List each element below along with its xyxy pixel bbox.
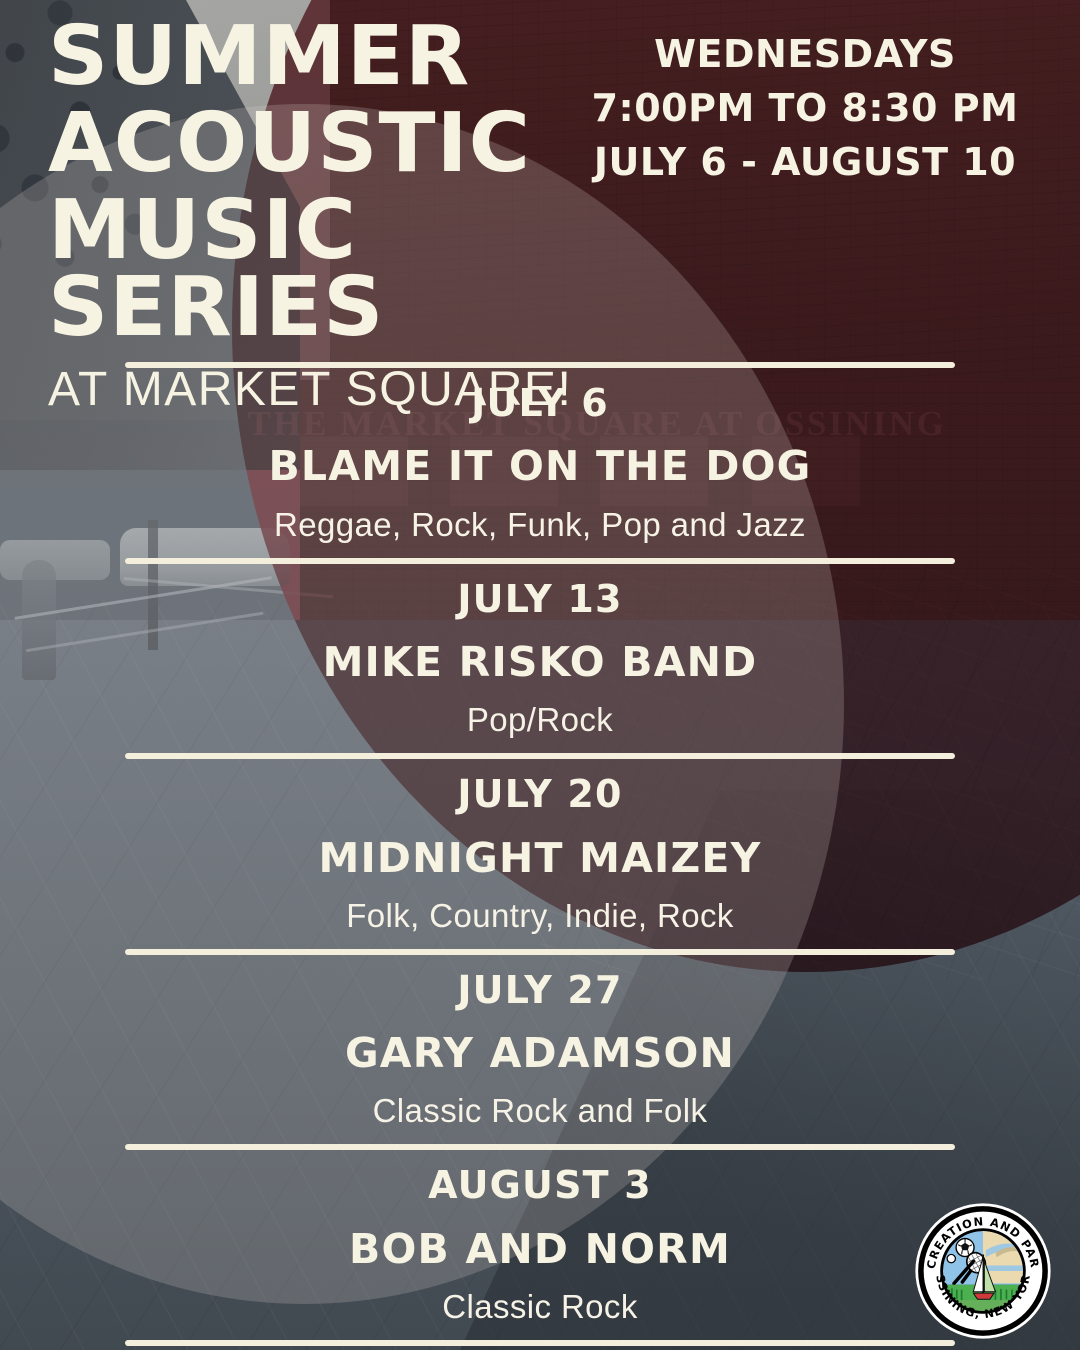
entry-genre: Folk, Country, Indie, Rock [0, 895, 1080, 938]
series-date-range: JULY 6 - AUGUST 10 [570, 136, 1040, 190]
entry-genre: Reggae, Rock, Funk, Pop and Jazz [0, 504, 1080, 547]
schedule-entry: JULY 6 BLAME IT ON THE DOG Reggae, Rock,… [0, 368, 1080, 558]
title-line-3: MUSIC SERIES [48, 192, 721, 346]
entry-band: MIDNIGHT MAIZEY [0, 832, 1080, 885]
entry-genre: Pop/Rock [0, 699, 1080, 742]
entry-band: BLAME IT ON THE DOG [0, 440, 1080, 493]
schedule-entry: JULY 13 MIKE RISKO BAND Pop/Rock [0, 564, 1080, 754]
entry-band: MIKE RISKO BAND [0, 636, 1080, 689]
schedule-entry: JULY 20 MIDNIGHT MAIZEY Folk, Country, I… [0, 759, 1080, 949]
entry-date: JULY 13 [0, 575, 1080, 624]
poster-content: SUMMER ACOUSTIC MUSIC SERIES AT MARKET S… [0, 0, 1080, 1350]
entry-band: GARY ADAMSON [0, 1027, 1080, 1080]
series-weekday: WEDNESDAYS [570, 28, 1040, 82]
ossining-parks-logo: RECREATION AND PARKS OSSINING, NEW YORK [914, 1202, 1052, 1340]
entry-date: JULY 20 [0, 770, 1080, 819]
schedule-entry: AUGUST 10 SUNDAD World Fusion, New Age [0, 1346, 1080, 1350]
series-time: 7:00PM TO 8:30 PM [570, 82, 1040, 136]
entry-date: JULY 27 [0, 966, 1080, 1015]
entry-date: JULY 6 [0, 379, 1080, 428]
schedule-summary-block: WEDNESDAYS 7:00PM TO 8:30 PM JULY 6 - AU… [570, 28, 1040, 190]
poster-canvas: THE MARKET SQUARE AT OSSINING SUMMER ACO… [0, 0, 1080, 1350]
schedule-entry: JULY 27 GARY ADAMSON Classic Rock and Fo… [0, 955, 1080, 1145]
entry-genre: Classic Rock and Folk [0, 1090, 1080, 1133]
